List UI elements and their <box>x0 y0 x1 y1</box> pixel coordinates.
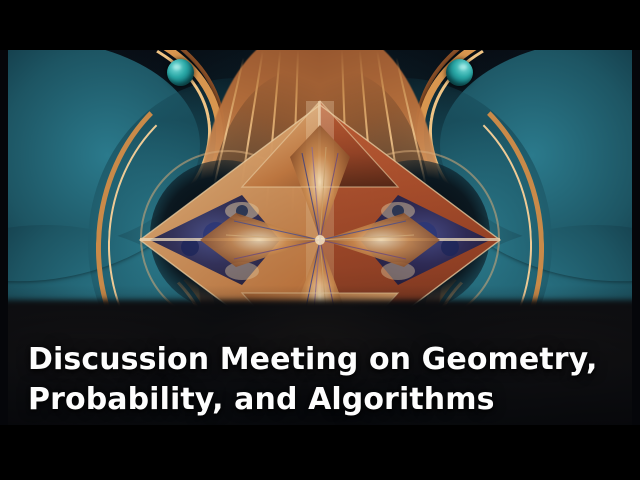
video-title-line-2: Probability, and Algorithms <box>28 380 628 420</box>
teal-orb-highlight <box>173 64 181 70</box>
teal-orb-icon <box>167 59 194 86</box>
video-title: Discussion Meeting on Geometry, Probabil… <box>28 340 628 420</box>
video-title-line-1: Discussion Meeting on Geometry, <box>28 340 628 380</box>
teal-orb-highlight-mirror <box>459 64 467 70</box>
letterbox-bottom <box>0 425 640 480</box>
star-core <box>315 235 325 245</box>
video-frame: Discussion Meeting on Geometry, Probabil… <box>0 0 640 480</box>
teal-orb-icon-mirror <box>446 59 473 86</box>
frame-edge-left <box>0 0 8 480</box>
letterbox-top <box>0 0 640 50</box>
frame-edge-right <box>632 0 640 480</box>
